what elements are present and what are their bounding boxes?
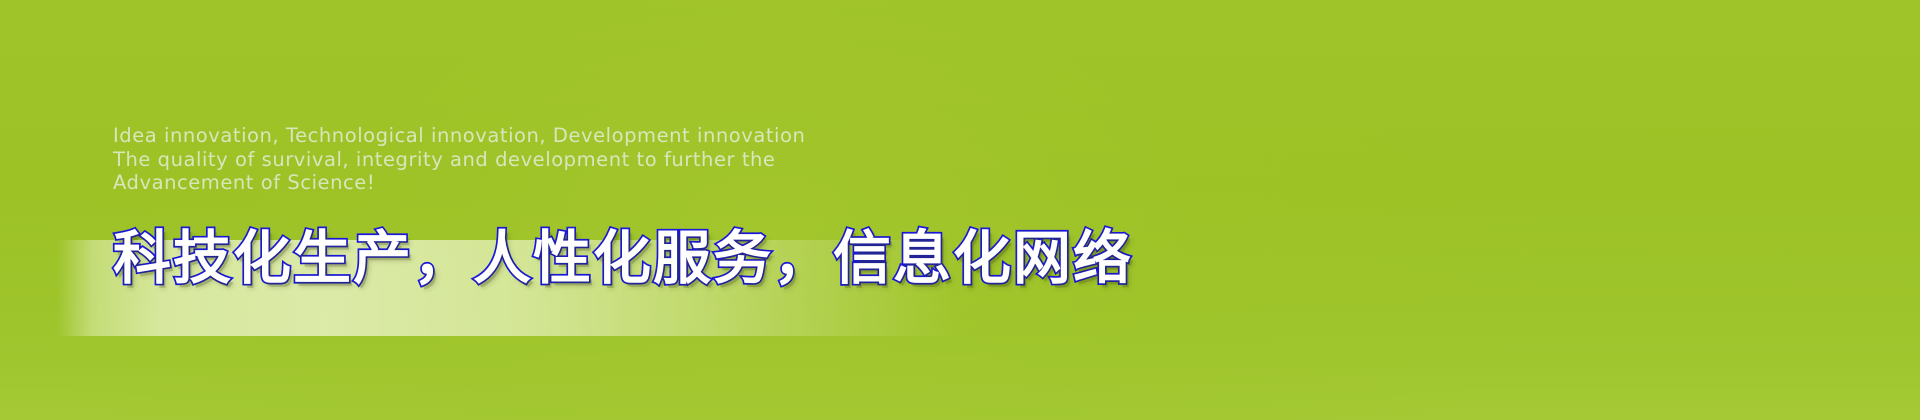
factory-photo: SGB d200-d600 bbox=[1000, 0, 1920, 420]
factory-photo-illustration: SGB d200-d600 bbox=[1000, 0, 1920, 420]
tagline-line-3: Advancement of Science! bbox=[113, 171, 993, 195]
promo-banner: SGB d200-d600 bbox=[0, 0, 1920, 420]
tagline-line-1: Idea innovation, Technological innovatio… bbox=[113, 124, 993, 148]
tagline-group: Idea innovation, Technological innovatio… bbox=[113, 124, 993, 195]
tagline-line-2: The quality of survival, integrity and d… bbox=[113, 148, 993, 172]
banner-headline: 科技化生产，人性化服务，信息化网络 bbox=[113, 221, 993, 295]
banner-text-block: Idea innovation, Technological innovatio… bbox=[113, 124, 993, 295]
